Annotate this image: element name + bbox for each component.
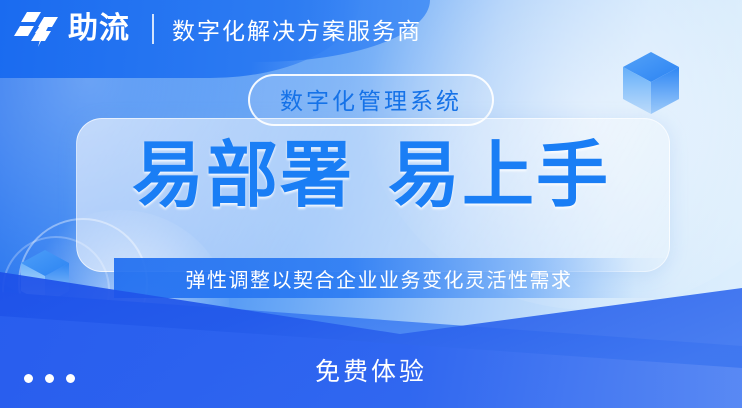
headline-part-right: 易上手 [388, 136, 610, 216]
carousel-dot[interactable] [66, 374, 75, 383]
header-tagline: 数字化解决方案服务商 [172, 12, 422, 46]
carousel-dot[interactable] [24, 374, 33, 383]
carousel-indicators [24, 374, 75, 383]
promo-banner: 助流 数字化解决方案服务商 [0, 0, 742, 408]
header-divider [152, 14, 154, 44]
zhuliu-lightning-logo-icon[interactable] [14, 9, 60, 49]
sub-tagline-text: 弹性调整以契合企业业务变化灵活性需求 [186, 264, 603, 293]
headline-part-left: 易部署 [132, 136, 354, 216]
isometric-cube-icon-left [18, 248, 72, 313]
carousel-dot[interactable] [45, 374, 54, 383]
brand-name: 助流 [68, 14, 130, 44]
brand-header: 助流 数字化解决方案服务商 [0, 0, 422, 58]
cta-free-trial[interactable]: 免费体验 [0, 352, 742, 388]
sub-tagline-band: 弹性调整以契合企业业务变化灵活性需求 [114, 258, 674, 298]
isometric-cube-icon-top-right [620, 50, 682, 123]
page-title: 易部署易上手 [0, 140, 742, 212]
